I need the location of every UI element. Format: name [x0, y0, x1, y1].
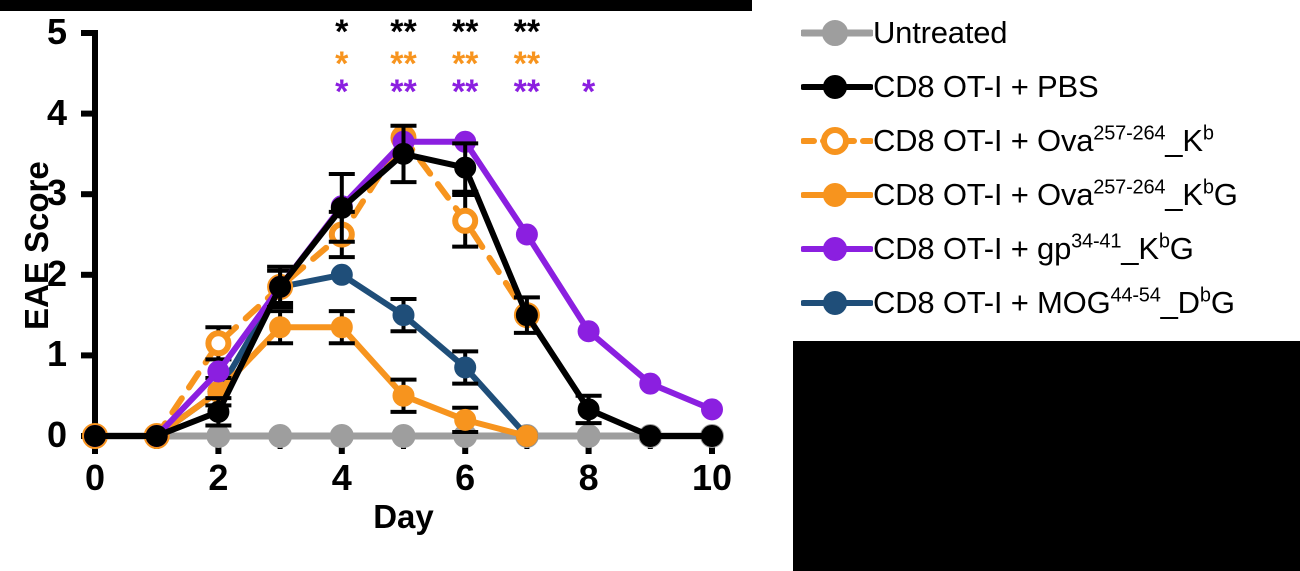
- significance-marker-purple-day5: **: [374, 80, 434, 104]
- significance-marker-purple-day4: *: [312, 80, 372, 104]
- marker-untreated-d3: [269, 425, 291, 447]
- marker-cd8-ot-i-mog44-54-dbg-d6: [455, 357, 475, 377]
- marker-cd8-ot-i-gp34-41-kbg-d7: [517, 225, 537, 245]
- legend-label-5: CD8 OT-I + MOG44-54_DbG: [873, 285, 1235, 321]
- marker-cd8-ot-i-pbs-d5: [394, 144, 414, 164]
- legend-label-1: CD8 OT-I + PBS: [873, 69, 1098, 105]
- marker-cd8-ot-i-pbs-d3: [270, 277, 290, 297]
- marker-cd8-ot-i-mog44-54-dbg-d5: [394, 305, 414, 325]
- legend-key-icon-2: [801, 114, 873, 168]
- marker-untreated-d2: [207, 425, 229, 447]
- marker-untreated-d4: [331, 425, 353, 447]
- figure-root: EAE Score Day 0123450246810*************…: [0, 0, 1300, 571]
- legend-item-1[interactable]: CD8 OT-I + PBS: [801, 60, 1098, 114]
- significance-marker-purple-day7: **: [497, 80, 557, 104]
- legend-label-4: CD8 OT-I + gp34-41_KbG: [873, 231, 1194, 267]
- y-tick-label-1: 1: [21, 336, 67, 372]
- marker-cd8-ot-i-ova257-264-kb-d6: [455, 211, 475, 231]
- marker-cd8-ot-i-pbs-d7: [517, 305, 537, 325]
- marker-cd8-ot-i-pbs-d4: [332, 198, 352, 218]
- line-chart: EAE Score Day 0123450246810*************…: [0, 0, 760, 571]
- legend-key-icon-4: [801, 222, 873, 276]
- marker-cd8-ot-i-ova257-264-kbg-d6: [455, 410, 475, 430]
- marker-cd8-ot-i-gp34-41-kbg-d8: [579, 321, 599, 341]
- marker-cd8-ot-i-gp34-41-kbg-d9: [640, 374, 660, 394]
- marker-cd8-ot-i-gp34-41-kbg-d2: [208, 362, 228, 382]
- legend-item-0[interactable]: Untreated: [801, 6, 1007, 60]
- marker-cd8-ot-i-pbs-d9: [640, 426, 660, 446]
- legend-key-icon-3: [801, 168, 873, 222]
- x-axis-title: Day: [304, 498, 504, 536]
- legend-key-icon-0: [801, 6, 873, 60]
- marker-cd8-ot-i-pbs-d8: [579, 399, 599, 419]
- significance-marker-purple-day6: **: [435, 80, 495, 104]
- marker-cd8-ot-i-ova257-264-kbg-d5: [394, 386, 414, 406]
- legend-label-2: CD8 OT-I + Ova257-264_Kb: [873, 123, 1214, 159]
- significance-marker-black-day5: **: [374, 20, 434, 44]
- marker-cd8-ot-i-pbs-d2: [208, 402, 228, 422]
- marker-untreated-d8: [578, 425, 600, 447]
- marker-cd8-ot-i-pbs-d0: [85, 426, 105, 446]
- marker-cd8-ot-i-mog44-54-dbg-d4: [332, 265, 352, 285]
- significance-marker-black-day6: **: [435, 20, 495, 44]
- y-tick-label-0: 0: [21, 417, 67, 453]
- legend-label-0: Untreated: [873, 15, 1007, 51]
- x-tick-label-6: 6: [430, 460, 500, 496]
- x-tick-label-10: 10: [677, 460, 747, 496]
- legend-item-5[interactable]: CD8 OT-I + MOG44-54_DbG: [801, 276, 1235, 330]
- x-tick-label-8: 8: [554, 460, 624, 496]
- significance-marker-black-day4: *: [312, 20, 372, 44]
- y-tick-label-4: 4: [21, 95, 67, 131]
- legend-item-3[interactable]: CD8 OT-I + Ova257-264_KbG: [801, 168, 1238, 222]
- chart-legend: UntreatedCD8 OT-I + PBSCD8 OT-I + Ova257…: [793, 0, 1300, 341]
- y-tick-label-3: 3: [21, 175, 67, 211]
- marker-cd8-ot-i-ova257-264-kbg-d4: [332, 317, 352, 337]
- marker-cd8-ot-i-gp34-41-kbg-d10: [702, 399, 722, 419]
- marker-cd8-ot-i-ova257-264-kbg-d7: [517, 426, 537, 446]
- marker-cd8-ot-i-pbs-d1: [147, 426, 167, 446]
- marker-cd8-ot-i-pbs-d6: [455, 158, 475, 178]
- marker-untreated-d5: [393, 425, 415, 447]
- marker-cd8-ot-i-ova257-264-kbg-d3: [270, 317, 290, 337]
- marker-cd8-ot-i-pbs-d10: [702, 426, 722, 446]
- series-line-cd8-ot-i-ova257-264-kb: [95, 138, 527, 436]
- x-tick-label-0: 0: [60, 460, 130, 496]
- legend-item-4[interactable]: CD8 OT-I + gp34-41_KbG: [801, 222, 1194, 276]
- bottom-right-black-band: [793, 341, 1300, 571]
- significance-marker-purple-day8: *: [559, 80, 619, 104]
- legend-key-icon-1: [801, 60, 873, 114]
- y-tick-label-5: 5: [21, 14, 67, 50]
- x-tick-label-4: 4: [307, 460, 377, 496]
- legend-label-3: CD8 OT-I + Ova257-264_KbG: [873, 177, 1238, 213]
- x-tick-label-2: 2: [183, 460, 253, 496]
- significance-marker-black-day7: **: [497, 20, 557, 44]
- legend-item-2[interactable]: CD8 OT-I + Ova257-264_Kb: [801, 114, 1214, 168]
- legend-key-icon-5: [801, 276, 873, 330]
- y-tick-label-2: 2: [21, 256, 67, 292]
- marker-cd8-ot-i-ova257-264-kb-d2: [208, 333, 228, 353]
